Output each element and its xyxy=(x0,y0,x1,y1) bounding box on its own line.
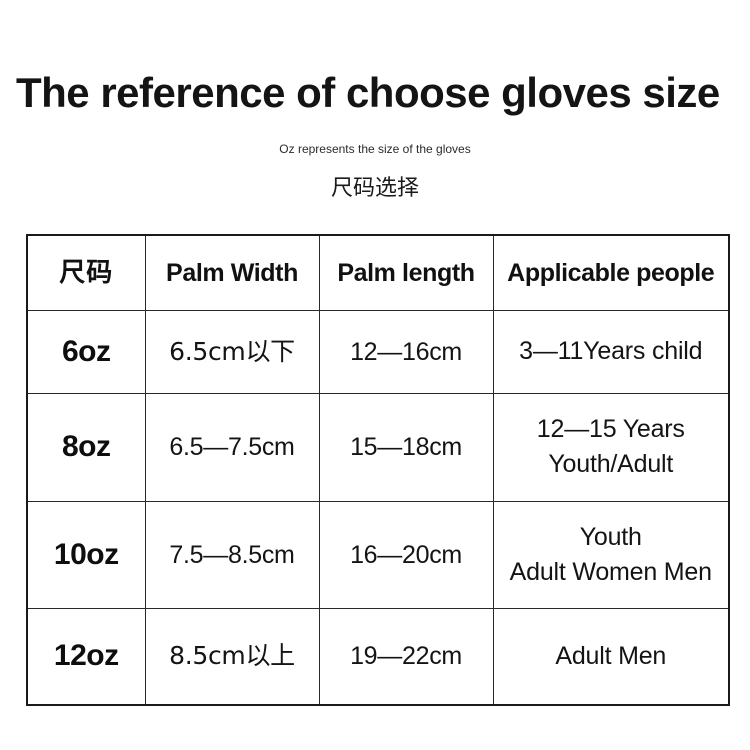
cell-applicable-people: 3—11Years child xyxy=(493,310,729,393)
people-line-secondary: Adult Women Men xyxy=(496,555,727,590)
column-header-palm-width: Palm Width xyxy=(145,235,319,310)
table-body: 6oz 6.5cm以下 12—16cm 3—11Years child 8oz … xyxy=(27,310,729,705)
cell-applicable-people: Youth Adult Women Men xyxy=(493,501,729,608)
cell-size: 10oz xyxy=(27,501,145,608)
people-line-primary: 3—11Years child xyxy=(496,334,727,369)
cell-applicable-people: Adult Men xyxy=(493,608,729,705)
table-row: 8oz 6.5—7.5cm 15—18cm 12—15 Years Youth/… xyxy=(27,393,729,501)
table-row: 6oz 6.5cm以下 12—16cm 3—11Years child xyxy=(27,310,729,393)
section-heading-chinese: 尺码选择 xyxy=(0,174,750,204)
cell-palm-length: 19—22cm xyxy=(319,608,493,705)
page-title-container: The reference of choose gloves size xyxy=(16,64,750,124)
page-subtitle: Oz represents the size of the gloves xyxy=(0,140,750,158)
glove-size-table: 尺码 Palm Width Palm length Applicable peo… xyxy=(26,234,730,706)
cell-palm-length: 15—18cm xyxy=(319,393,493,501)
cell-palm-width: 6.5—7.5cm xyxy=(145,393,319,501)
cell-size: 8oz xyxy=(27,393,145,501)
cell-palm-length: 16—20cm xyxy=(319,501,493,608)
size-chart-page: The reference of choose gloves size Oz r… xyxy=(0,0,750,750)
people-line-primary: 12—15 Years xyxy=(496,412,727,447)
page-title: The reference of choose gloves size xyxy=(16,64,750,122)
cell-size: 6oz xyxy=(27,310,145,393)
size-table-container: 尺码 Palm Width Palm length Applicable peo… xyxy=(26,234,728,704)
table-header: 尺码 Palm Width Palm length Applicable peo… xyxy=(27,235,729,310)
cell-size: 12oz xyxy=(27,608,145,705)
cell-palm-length: 12—16cm xyxy=(319,310,493,393)
table-row: 10oz 7.5—8.5cm 16—20cm Youth Adult Women… xyxy=(27,501,729,608)
people-line-primary: Youth xyxy=(496,520,727,555)
cell-palm-width: 6.5cm以下 xyxy=(145,310,319,393)
table-header-row: 尺码 Palm Width Palm length Applicable peo… xyxy=(27,235,729,310)
people-line-secondary: Youth/Adult xyxy=(496,447,727,482)
cell-applicable-people: 12—15 Years Youth/Adult xyxy=(493,393,729,501)
column-header-palm-length: Palm length xyxy=(319,235,493,310)
people-line-primary: Adult Men xyxy=(496,639,727,674)
table-row: 12oz 8.5cm以上 19—22cm Adult Men xyxy=(27,608,729,705)
cell-palm-width: 8.5cm以上 xyxy=(145,608,319,705)
column-header-applicable-people: Applicable people xyxy=(493,235,729,310)
cell-palm-width: 7.5—8.5cm xyxy=(145,501,319,608)
column-header-size: 尺码 xyxy=(27,235,145,310)
